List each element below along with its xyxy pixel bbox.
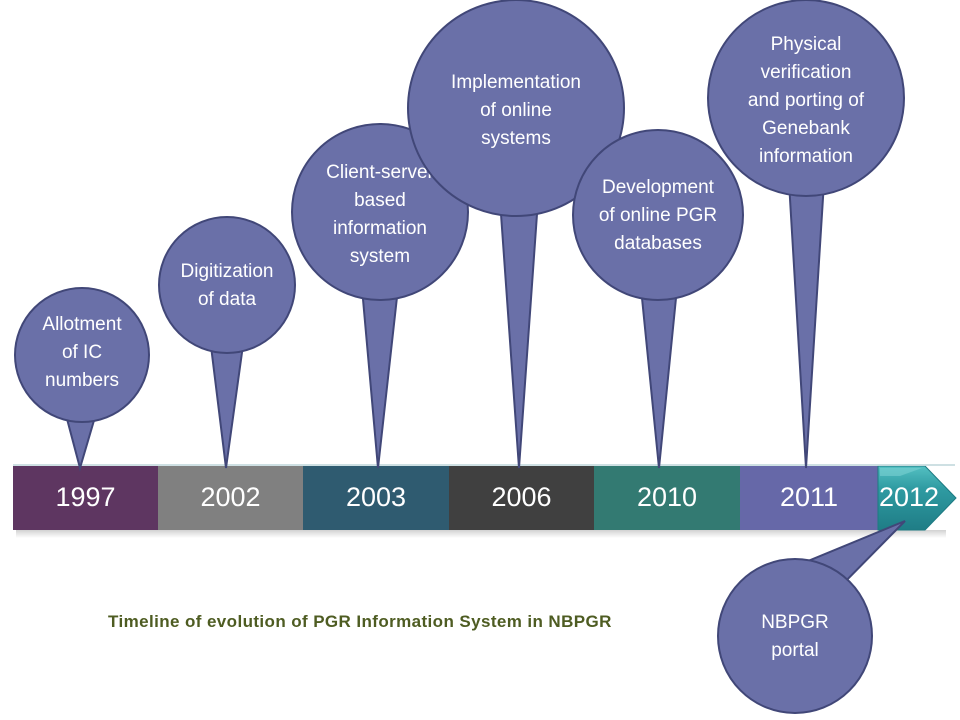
callout-line-2011-2: and porting of [748,90,865,111]
callout-line-2010-0: Development [602,177,715,198]
callout-tail-2010 [641,288,677,468]
callout-tail-2011 [789,182,824,468]
callout-line-2002-0: Digitization [181,261,274,282]
callout-line-2010-1: of online PGR [599,205,717,226]
timeline-diagram: 1997 2002 2003 2006 2010 2011 [0,0,960,720]
diagram-caption: Timeline of evolution of PGR Information… [108,612,612,632]
callout-line-1997-0: Allotment [42,314,122,335]
callout-bubble-2002[interactable]: Digitization of data [159,217,295,353]
callout-line-1997-1: of IC [62,342,102,363]
callout-line-2011-0: Physical [771,34,842,55]
callout-circle-2012 [718,559,872,713]
callout-line-2011-4: information [759,146,853,167]
callout-line-2006-1: of online [480,100,552,121]
callout-line-2002-1: of data [198,289,257,310]
callout-line-2006-2: systems [481,128,551,149]
callout-line-2011-1: verification [761,62,852,83]
callout-line-2006-0: Implementation [451,72,581,93]
callout-line-2003-1: based [354,190,406,211]
callout-line-2010-2: databases [614,233,702,254]
callout-tail-2006 [500,200,538,468]
callout-line-2003-0: Client-server [326,162,434,183]
callout-circle-2002 [159,217,295,353]
callout-line-2003-2: information [333,218,427,239]
callout-line-2012-1: portal [771,640,819,661]
callout-bubble-1997[interactable]: Allotment of IC numbers [15,288,149,422]
callout-line-1997-2: numbers [45,370,119,391]
callout-line-2012-0: NBPGR [761,612,829,633]
callout-bubble-2012[interactable]: NBPGR portal [718,559,872,713]
callout-line-2011-3: Genebank [762,118,850,139]
callout-tail-2003 [362,288,398,468]
callout-line-2003-3: system [350,246,410,267]
callout-bubble-2011[interactable]: Physical verification and porting of Gen… [708,0,904,196]
callout-bubble-2010[interactable]: Development of online PGR databases [573,130,743,300]
callout-tail-2002 [210,338,244,468]
